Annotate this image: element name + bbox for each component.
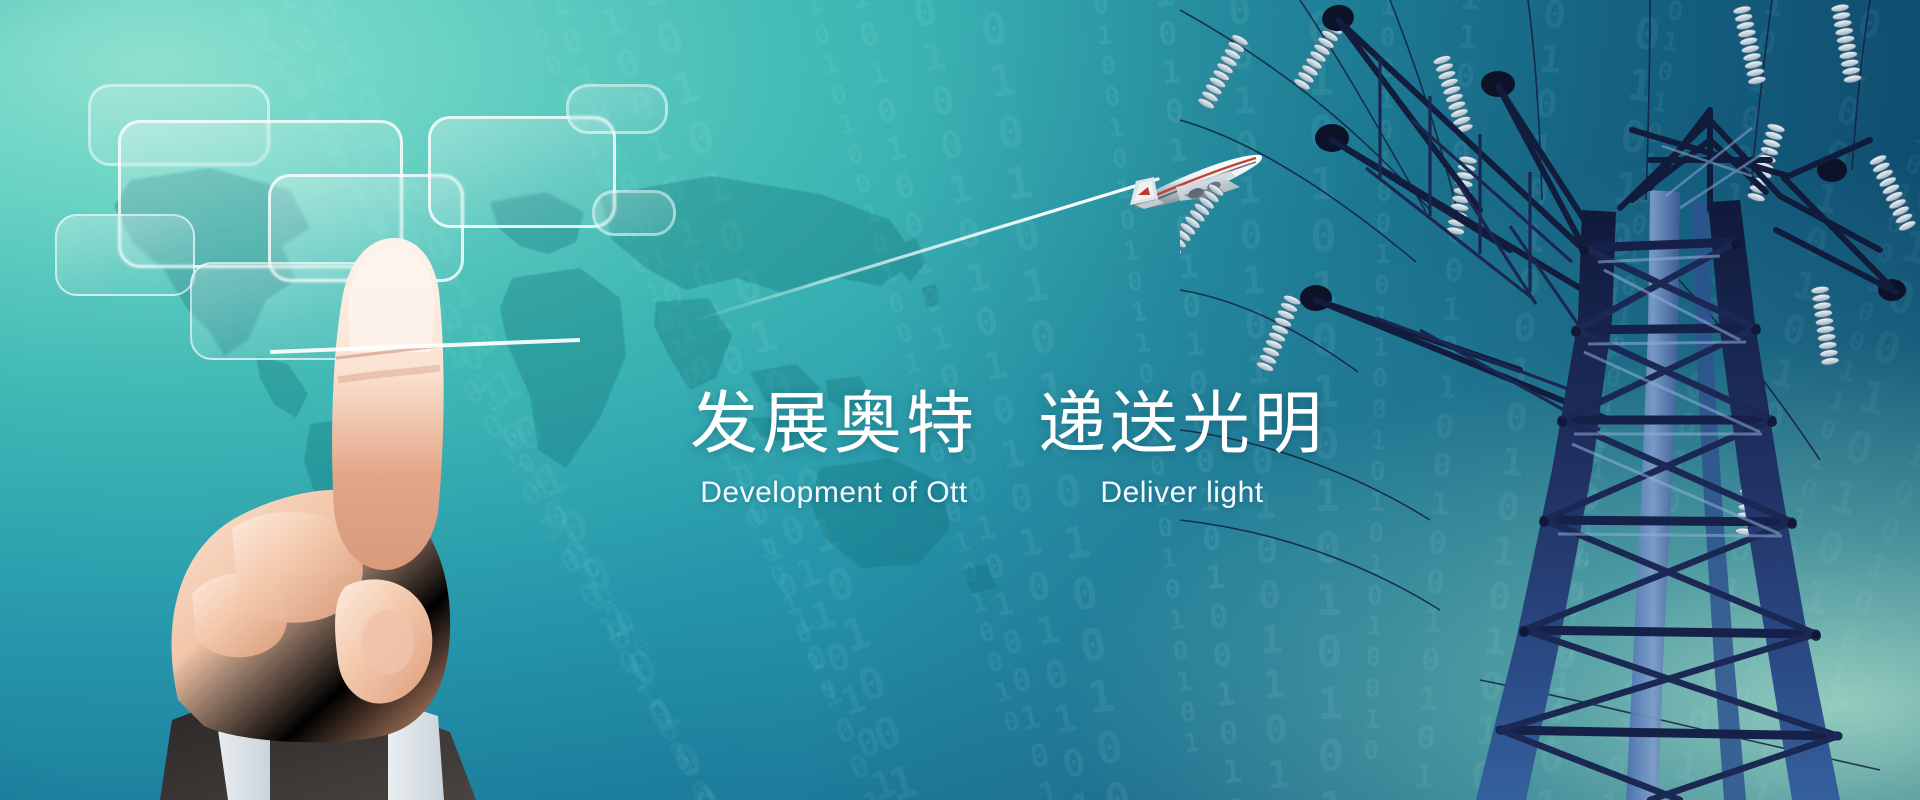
- hero-banner: 0101010100101010101001010100100101010100…: [0, 0, 1920, 800]
- headline-right-en: Deliver light: [1100, 475, 1263, 511]
- headline-right: 递送光明 Deliver light: [1038, 390, 1326, 511]
- headline-right-cn: 递送光明: [1038, 390, 1326, 461]
- headline-group: 发展奥特 Development of Ott 递送光明 Deliver lig…: [690, 390, 1430, 511]
- headline-left-en: Development of Ott: [700, 475, 967, 511]
- headline-left: 发展奥特 Development of Ott: [690, 390, 978, 511]
- headline-left-cn: 发展奥特: [690, 390, 978, 461]
